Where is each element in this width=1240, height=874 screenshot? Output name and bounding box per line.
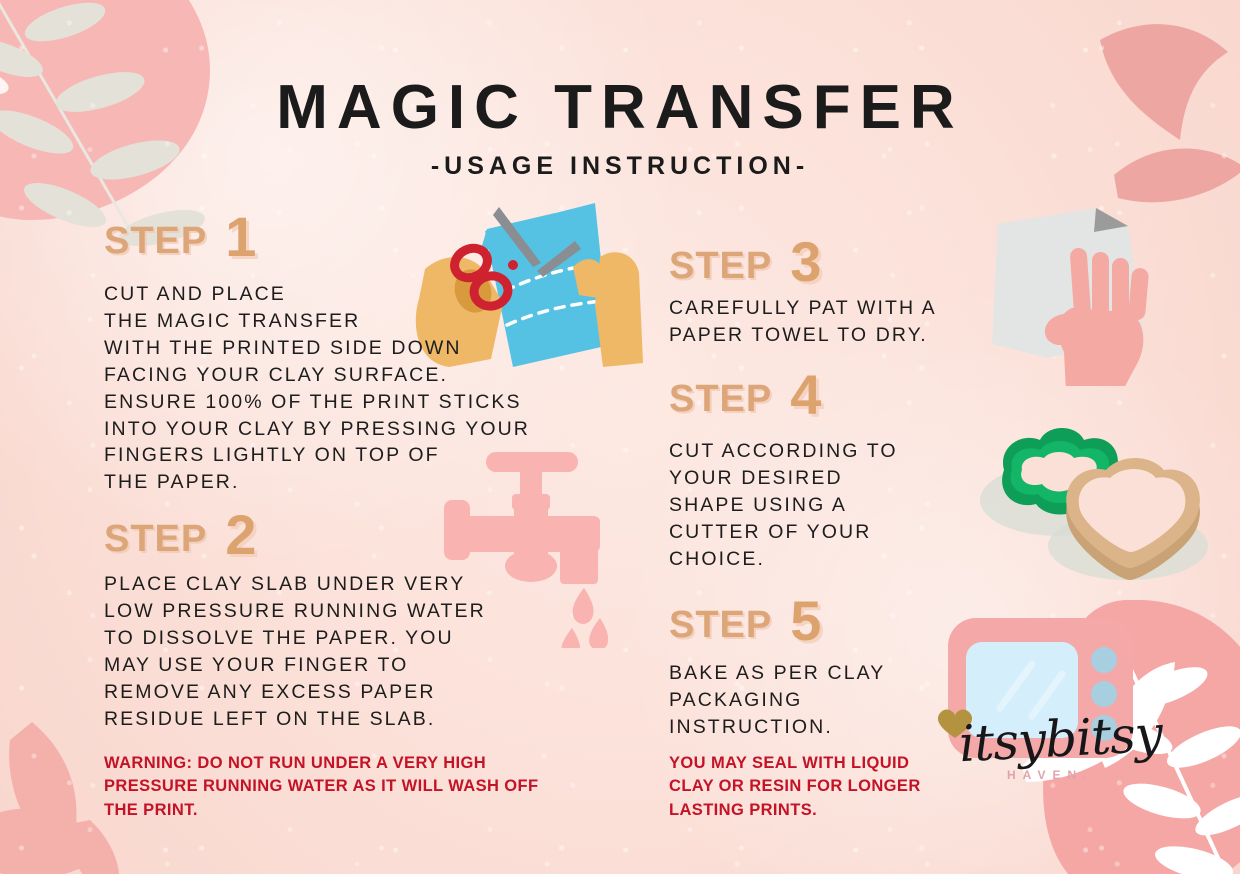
step-4-heading: STEP 4 bbox=[669, 372, 821, 418]
infographic-poster: MAGIC TRANSFER -USAGE INSTRUCTION- STEP … bbox=[0, 0, 1240, 874]
step-1-body: CUT AND PLACE THE MAGIC TRANSFER WITH TH… bbox=[104, 281, 624, 496]
brand-logo: itsybitsy HAVEN. bbox=[935, 706, 1175, 796]
logo-tagline: HAVEN. bbox=[1007, 768, 1093, 782]
step-2-number: 2 bbox=[225, 512, 256, 558]
step-3-heading: STEP 3 bbox=[669, 239, 821, 285]
warning-right: YOU MAY SEAL WITH LIQUID CLAY OR RESIN F… bbox=[669, 752, 969, 822]
step-3-body: CAREFULLY PAT WITH A PAPER TOWEL TO DRY. bbox=[669, 295, 1049, 349]
step-5-number: 5 bbox=[790, 598, 821, 644]
logo-wordmark: itsybitsy bbox=[958, 705, 1164, 774]
step-2-heading: STEP 2 bbox=[104, 512, 256, 558]
step-4-label: STEP bbox=[669, 380, 772, 418]
step-1-heading: STEP 1 bbox=[104, 214, 256, 260]
page-subtitle: -USAGE INSTRUCTION- bbox=[0, 152, 1240, 181]
step-5-body: BAKE AS PER CLAY PACKAGING INSTRUCTION. bbox=[669, 660, 969, 741]
step-1-label: STEP bbox=[104, 222, 207, 260]
warning-left: WARNING: DO NOT RUN UNDER A VERY HIGH PR… bbox=[104, 752, 604, 822]
page-title: MAGIC TRANSFER bbox=[0, 72, 1240, 143]
step-4-number: 4 bbox=[790, 372, 821, 418]
step-3-label: STEP bbox=[669, 247, 772, 285]
step-3-number: 3 bbox=[790, 239, 821, 285]
step-4-body: CUT ACCORDING TO YOUR DESIRED SHAPE USIN… bbox=[669, 438, 969, 573]
step-2-body: PLACE CLAY SLAB UNDER VERY LOW PRESSURE … bbox=[104, 571, 604, 732]
step-5-label: STEP bbox=[669, 606, 772, 644]
step-1-number: 1 bbox=[225, 214, 256, 260]
step-5-heading: STEP 5 bbox=[669, 598, 821, 644]
step-2-label: STEP bbox=[104, 520, 207, 558]
